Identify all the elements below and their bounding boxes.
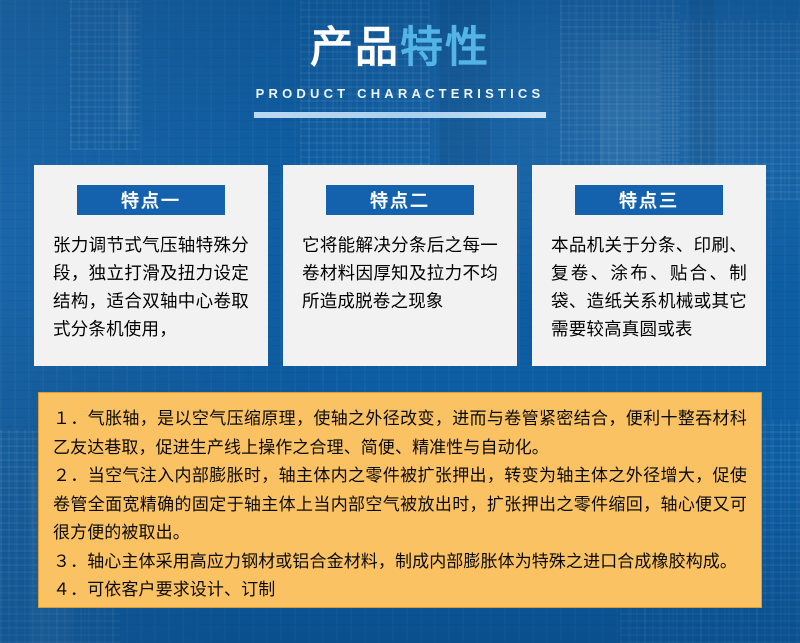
banner-header: 产品特性 PRODUCT CHARACTERISTICS — [0, 0, 800, 118]
note-item-1: １．气胀轴，是以空气压缩原理，使轴之外径改变，进而与卷管紧密结合，便利十整吞材科… — [53, 405, 747, 462]
note-item-4: ４．可依客户要求设计、订制 — [53, 576, 747, 605]
feature-card-2: 特点二 它将能解决分条后之每一卷材料因厚知及拉力不均所造成脱卷之现象 — [283, 165, 517, 366]
feature-card-1-badge: 特点一 — [77, 185, 225, 215]
feature-card-3: 特点三 本品机关于分条、印刷、复卷、涂布、贴合、制袋、造纸关系机械或其它需要较高… — [532, 165, 766, 366]
title-underline-rule — [254, 112, 546, 118]
feature-card-3-body: 本品机关于分条、印刷、复卷、涂布、贴合、制袋、造纸关系机械或其它需要较高真圆或表 — [551, 232, 747, 344]
page-title-part-accent: 特性 — [400, 23, 490, 73]
feature-card-2-badge: 特点二 — [326, 185, 474, 215]
feature-card-list: 特点一 张力调节式气压轴特殊分段，独立打滑及扭力设定结构，适合双轴中心卷取式分条… — [34, 165, 766, 366]
page-title-part-white: 产品 — [310, 23, 400, 73]
note-item-2: ２．当空气注入内部膨胀时，轴主体内之零件被扩张押出，转变为轴主体之外径增大，促使… — [53, 462, 747, 548]
description-note-box: １．气胀轴，是以空气压缩原理，使轴之外径改变，进而与卷管紧密结合，便利十整吞材科… — [38, 392, 762, 608]
feature-card-1: 特点一 张力调节式气压轴特殊分段，独立打滑及扭力设定结构，适合双轴中心卷取式分条… — [34, 165, 268, 366]
page-title: 产品特性 — [0, 0, 800, 74]
note-item-3: ３．轴心主体采用高应力钢材或铝合金材料，制成内部膨胀体为特殊之进口合成橡胶构成。 — [53, 548, 747, 577]
feature-card-3-badge: 特点三 — [575, 185, 723, 215]
feature-card-1-body: 张力调节式气压轴特殊分段，独立打滑及扭力设定结构，适合双轴中心卷取式分条机使用， — [53, 232, 249, 344]
product-characteristics-banner: 产品特性 PRODUCT CHARACTERISTICS 特点一 张力调节式气压… — [0, 0, 800, 643]
page-subtitle: PRODUCT CHARACTERISTICS — [0, 86, 800, 101]
feature-card-2-body: 它将能解决分条后之每一卷材料因厚知及拉力不均所造成脱卷之现象 — [302, 232, 498, 316]
